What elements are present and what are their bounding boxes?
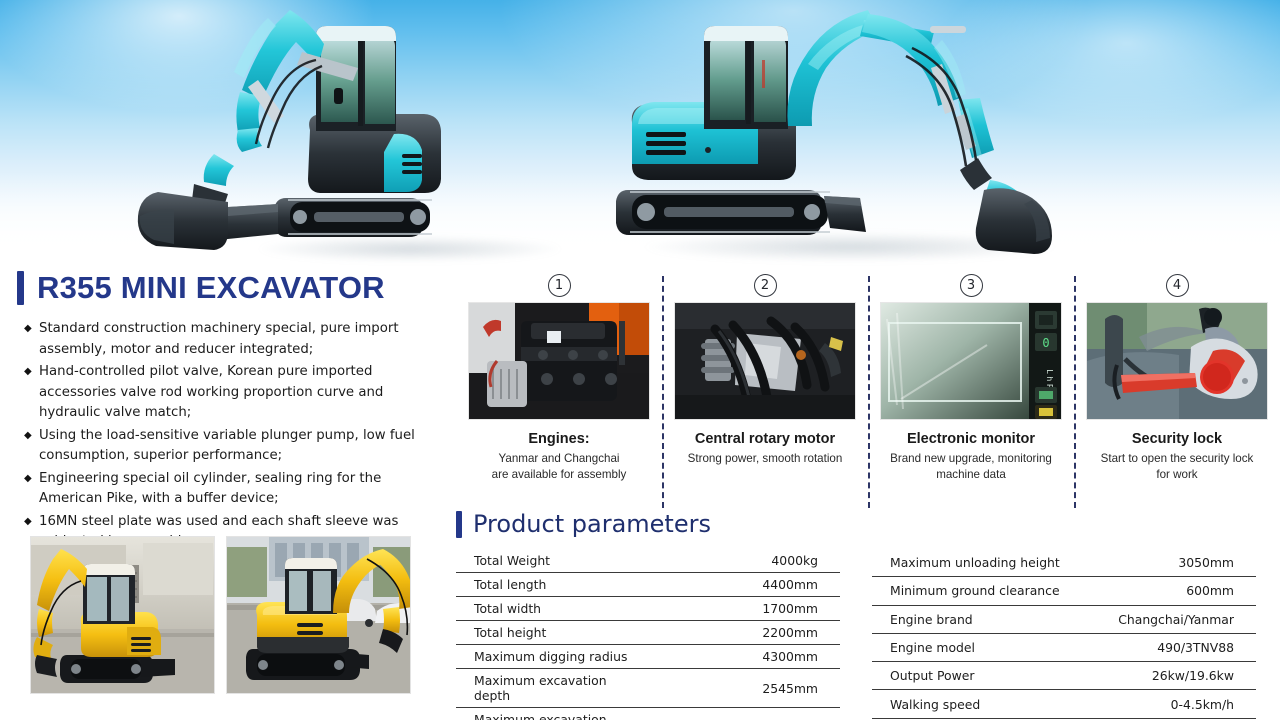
card-title: Electronic monitor [907, 431, 1035, 447]
param-value: 4450mm [648, 708, 840, 720]
param-label: Total length [456, 573, 648, 597]
svg-text:L h P: L h P [1045, 369, 1054, 389]
param-label: Minimum ground clearance [872, 577, 1064, 605]
mini-excavator-right [612, 4, 1172, 260]
param-label: Output Power [872, 662, 1064, 690]
card-number-badge: 2 [754, 274, 777, 297]
param-label: Maximum excavation height [456, 708, 648, 720]
diamond-bullet-icon: ◆ [24, 362, 39, 382]
feature-bullet-text: Standard construction machinery special,… [39, 319, 428, 360]
parameters-table-right: Maximum unloading height3050mmMinimum gr… [872, 549, 1256, 720]
feature-bullet: ◆Engineering special oil cylinder, seali… [24, 469, 428, 510]
card-subtitle: Start to open the security lockfor work [1084, 451, 1270, 482]
diamond-bullet-icon: ◆ [24, 426, 39, 446]
param-label: Engine brand [872, 605, 1064, 633]
param-value: 3050mm [1064, 549, 1256, 577]
table-row: Engine brandChangchai/Yanmar [872, 605, 1256, 633]
product-brochure-page: R355 MINI EXCAVATOR ◆Standard constructi… [0, 0, 1280, 720]
diamond-bullet-icon: ◆ [24, 469, 39, 489]
feature-bullet-text: Using the load-sensitive variable plunge… [39, 426, 428, 467]
card-subtitle: Yanmar and Changchaiare available for as… [466, 451, 652, 482]
feature-bullet-text: Engineering special oil cylinder, sealin… [39, 469, 428, 510]
feature-card-2: 2 Central rotary motorStrong power, smoo… [662, 274, 868, 502]
feature-bullet: ◆Standard construction machinery special… [24, 319, 428, 360]
page-title: R355 MINI EXCAVATOR [37, 270, 385, 306]
security-lock-photo[interactable] [1086, 302, 1268, 420]
feature-bullet-list: ◆Standard construction machinery special… [24, 319, 428, 553]
feature-bullet-text: Hand-controlled pilot valve, Korean pure… [39, 362, 428, 424]
param-label: Maximum unloading height [872, 549, 1064, 577]
product-photo-gallery [30, 536, 411, 694]
svg-text:0: 0 [1042, 336, 1049, 350]
card-title: Central rotary motor [695, 431, 835, 447]
card-title: Engines: [528, 431, 589, 447]
card-number-badge: 1 [548, 274, 571, 297]
param-value: 0-4.5km/h [1064, 690, 1256, 718]
title-accent-bar [17, 271, 24, 305]
mini-excavator-left [118, 2, 568, 260]
feature-card-3: 3 0 L h P Electronic monitorBrand new up… [868, 274, 1074, 502]
params-title: Product parameters [473, 510, 711, 538]
central-rotary-motor-photo[interactable] [674, 302, 856, 420]
table-row: Engine model490/3TNV88 [872, 633, 1256, 661]
yellow-excavator-rear-view[interactable] [226, 536, 411, 694]
parameters-table-left: Total Weight4000kgTotal length4400mmTota… [456, 549, 840, 720]
card-number-badge: 3 [960, 274, 983, 297]
param-value: 26kw/19.6kw [1064, 662, 1256, 690]
card-number-badge: 4 [1166, 274, 1189, 297]
table-row: Walking speed0-4.5km/h [872, 690, 1256, 718]
card-subtitle: Brand new upgrade, monitoringmachine dat… [878, 451, 1064, 482]
param-label: Walking speed [872, 690, 1064, 718]
parameters-tables: Total Weight4000kgTotal length4400mmTota… [456, 549, 1280, 720]
param-value: Changchai/Yanmar [1064, 605, 1256, 633]
table-row: Maximum unloading height3050mm [872, 549, 1256, 577]
param-label: Total width [456, 597, 648, 621]
param-label: Total height [456, 621, 648, 645]
table-row: Maximum digging radius4300mm [456, 645, 840, 669]
param-value: 2545mm [648, 669, 840, 708]
card-title: Security lock [1132, 431, 1222, 447]
param-value: 1700mm [648, 597, 840, 621]
table-row: Output Power26kw/19.6kw [872, 662, 1256, 690]
param-value: 4400mm [648, 573, 840, 597]
table-row: Maximum excavation depth2545mm [456, 669, 840, 708]
table-row: Total Weight4000kg [456, 549, 840, 573]
param-label: Engine model [872, 633, 1064, 661]
param-value: 490/3TNV88 [1064, 633, 1256, 661]
param-label: Maximum excavation depth [456, 669, 648, 708]
table-row: Total height2200mm [456, 621, 840, 645]
electronic-monitor-photo[interactable]: 0 L h P [880, 302, 1062, 420]
yellow-excavator-side-view[interactable] [30, 536, 215, 694]
params-accent-bar [456, 511, 462, 538]
param-value: 4300mm [648, 645, 840, 669]
card-subtitle: Strong power, smooth rotation [672, 451, 858, 467]
feature-card-1: 1 Engines:Yanmar and Changchaiare availa… [456, 274, 662, 502]
engine-photo[interactable] [468, 302, 650, 420]
hero-banner [0, 0, 1280, 268]
table-row: Maximum excavation height4450mm [456, 708, 840, 720]
product-title-row: R355 MINI EXCAVATOR [0, 270, 448, 306]
feature-cards: 1 Engines:Yanmar and Changchaiare availa… [456, 274, 1280, 502]
table-row: Total width1700mm [456, 597, 840, 621]
product-parameters-heading: Product parameters [456, 510, 711, 538]
diamond-bullet-icon: ◆ [24, 512, 39, 532]
feature-card-4: 4 Security lockStart to open the securit… [1074, 274, 1280, 502]
table-row: Minimum ground clearance600mm [872, 577, 1256, 605]
param-label: Maximum digging radius [456, 645, 648, 669]
param-value: 2200mm [648, 621, 840, 645]
param-label: Total Weight [456, 549, 648, 573]
param-value: 600mm [1064, 577, 1256, 605]
feature-bullet: ◆Hand-controlled pilot valve, Korean pur… [24, 362, 428, 424]
diamond-bullet-icon: ◆ [24, 319, 39, 339]
table-row: Total length4400mm [456, 573, 840, 597]
product-info-column: R355 MINI EXCAVATOR ◆Standard constructi… [0, 264, 448, 720]
param-value: 4000kg [648, 549, 840, 573]
feature-bullet: ◆Using the load-sensitive variable plung… [24, 426, 428, 467]
